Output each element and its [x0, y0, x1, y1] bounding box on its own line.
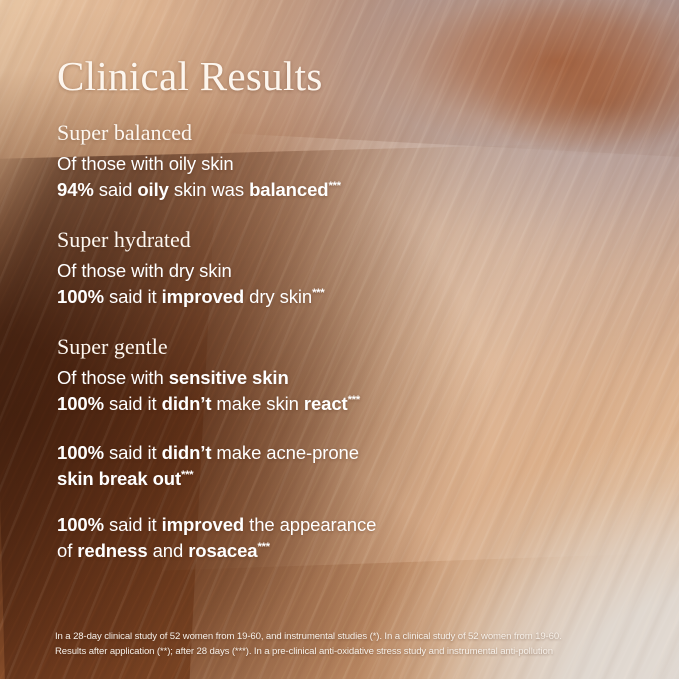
- result-heading: Super gentle: [57, 332, 617, 362]
- result-heading: Super balanced: [57, 118, 617, 148]
- footnote-marker: ***: [348, 394, 360, 406]
- result-block: Super balancedOf those with oily skin94%…: [57, 118, 617, 203]
- result-line: skin break out***: [57, 466, 617, 492]
- emphasis-text: improved: [162, 514, 244, 535]
- plain-text: said it: [104, 286, 162, 307]
- emphasis-text: improved: [162, 286, 244, 307]
- result-line: Of those with oily skin: [57, 151, 617, 177]
- plain-text: make skin: [211, 393, 303, 414]
- clinical-results-poster: Clinical Results Super balancedOf those …: [0, 0, 679, 679]
- plain-text: of: [57, 540, 77, 561]
- result-line: 100% said it improved the appearance: [57, 512, 617, 538]
- result-line: 100% said it didn’t make acne-prone: [57, 440, 617, 466]
- result-heading: Super hydrated: [57, 225, 617, 255]
- plain-text: said it: [104, 514, 162, 535]
- footnote-marker: ***: [181, 469, 193, 481]
- result-line: Of those with dry skin: [57, 258, 617, 284]
- result-line: Of those with sensitive skin: [57, 365, 617, 391]
- emphasis-text: didn’t: [162, 442, 212, 463]
- emphasis-text: redness: [77, 540, 147, 561]
- result-line: 100% said it didn’t make skin react***: [57, 391, 617, 417]
- footnote-marker: ***: [257, 541, 269, 553]
- plain-text: Of those with oily skin: [57, 153, 234, 174]
- page-title: Clinical Results: [57, 54, 323, 99]
- footnote-disclaimer: In a 28-day clinical study of 52 women f…: [55, 630, 645, 660]
- result-block: 100% said it improved the appearanceof r…: [57, 512, 617, 565]
- plain-text: said it: [104, 393, 162, 414]
- plain-text: skin was: [169, 179, 249, 200]
- emphasis-text: 100%: [57, 514, 104, 535]
- footnote-marker: ***: [312, 287, 324, 299]
- result-line: 94% said oily skin was balanced***: [57, 177, 617, 203]
- emphasis-text: skin break out: [57, 468, 181, 489]
- plain-text: the appearance: [244, 514, 376, 535]
- emphasis-text: 94%: [57, 179, 94, 200]
- emphasis-text: sensitive skin: [169, 367, 289, 388]
- footnote-marker: ***: [328, 180, 340, 192]
- emphasis-text: 100%: [57, 393, 104, 414]
- emphasis-text: didn’t: [162, 393, 212, 414]
- emphasis-text: react: [304, 393, 348, 414]
- result-line: of redness and rosacea***: [57, 538, 617, 564]
- emphasis-text: 100%: [57, 442, 104, 463]
- plain-text: Of those with: [57, 367, 169, 388]
- result-block: Super hydratedOf those with dry skin100%…: [57, 225, 617, 310]
- plain-text: dry skin: [244, 286, 312, 307]
- result-block: 100% said it didn’t make acne-proneskin …: [57, 440, 617, 493]
- plain-text: said: [94, 179, 138, 200]
- plain-text: and: [148, 540, 189, 561]
- result-line: 100% said it improved dry skin***: [57, 284, 617, 310]
- emphasis-text: rosacea: [188, 540, 257, 561]
- emphasis-text: 100%: [57, 286, 104, 307]
- footnote-line-2: Results after application (**); after 28…: [55, 645, 645, 660]
- plain-text: said it: [104, 442, 162, 463]
- plain-text: Of those with dry skin: [57, 260, 232, 281]
- footnote-line-1: In a 28-day clinical study of 52 women f…: [55, 630, 645, 645]
- emphasis-text: balanced: [249, 179, 328, 200]
- poster-content: Clinical Results Super balancedOf those …: [0, 0, 679, 679]
- emphasis-text: oily: [137, 179, 168, 200]
- plain-text: make acne-prone: [211, 442, 359, 463]
- results-list: Super balancedOf those with oily skin94%…: [57, 118, 617, 585]
- result-block: Super gentleOf those with sensitive skin…: [57, 332, 617, 417]
